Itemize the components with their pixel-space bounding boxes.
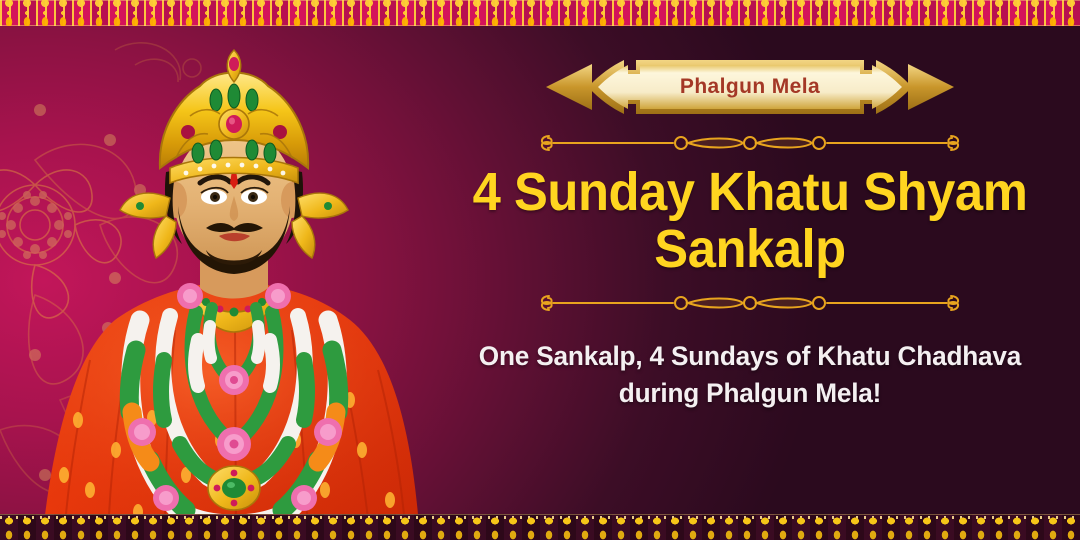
content-column: Phalgun Mela 4 Sunday Khatu Shyam Sankal…	[440, 0, 1060, 540]
khatu-shyam-deity-icon	[20, 20, 450, 540]
promotional-banner: Phalgun Mela 4 Sunday Khatu Shyam Sankal…	[0, 0, 1080, 540]
bottom-border-pattern	[0, 514, 1080, 540]
top-border-pattern	[0, 0, 1080, 26]
plaque-banner: Phalgun Mela	[540, 52, 960, 122]
headline-text: 4 Sunday Khatu Shyam Sankalp	[459, 164, 1042, 278]
plaque-label: Phalgun Mela	[540, 52, 960, 122]
scallop-motif-icon	[0, 0, 1080, 26]
subtitle-text: One Sankalp, 4 Sundays of Khatu Chadhava…	[478, 338, 1021, 411]
scallop-motif-icon-bottom	[0, 514, 1080, 540]
filigree-divider-icon-bottom	[535, 288, 965, 318]
filigree-divider-icon-top	[535, 128, 965, 158]
